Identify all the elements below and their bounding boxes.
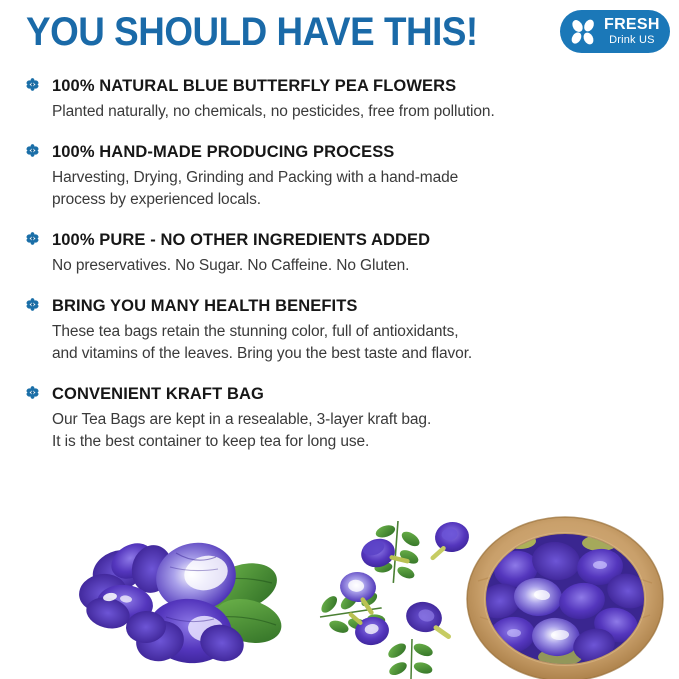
feature-line: Planted naturally, no chemicals, no pest… bbox=[52, 101, 659, 123]
brand-logo: FRESH Drink US bbox=[560, 10, 670, 53]
feature-item: 100% HAND-MADE PRODUCING PROCESS Harvest… bbox=[26, 142, 659, 211]
feature-body: 100% NATURAL BLUE BUTTERFLY PEA FLOWERS … bbox=[52, 76, 659, 123]
feature-line: Our Tea Bags are kept in a resealable, 3… bbox=[52, 409, 659, 431]
infographic-page: YOU SHOULD HAVE THIS! FRESH Drink US bbox=[0, 0, 679, 679]
feature-heading: BRING YOU MANY HEALTH BENEFITS bbox=[52, 296, 659, 317]
feature-item: 100% PURE - NO OTHER INGREDIENTS ADDED N… bbox=[26, 230, 659, 277]
feature-item: BRING YOU MANY HEALTH BENEFITS These tea… bbox=[26, 296, 659, 365]
feature-heading: 100% PURE - NO OTHER INGREDIENTS ADDED bbox=[52, 230, 659, 251]
feature-line: It is the best container to keep tea for… bbox=[52, 431, 659, 453]
flower-asterisk-icon bbox=[26, 384, 52, 399]
feature-heading: 100% HAND-MADE PRODUCING PROCESS bbox=[52, 142, 659, 163]
flower-asterisk-icon bbox=[26, 230, 52, 245]
brand-name-secondary: Drink US bbox=[609, 35, 655, 46]
brand-name-primary: FRESH bbox=[604, 17, 660, 33]
feature-heading: 100% NATURAL BLUE BUTTERFLY PEA FLOWERS bbox=[52, 76, 659, 97]
product-photo-strip bbox=[0, 509, 679, 679]
feature-line: process by experienced locals. bbox=[52, 189, 659, 211]
feature-body: BRING YOU MANY HEALTH BENEFITS These tea… bbox=[52, 296, 659, 365]
wooden-bowl-of-flowers-photo bbox=[467, 517, 663, 679]
feature-line: No preservatives. No Sugar. No Caffeine.… bbox=[52, 255, 659, 277]
flower-asterisk-icon bbox=[26, 142, 52, 157]
header: YOU SHOULD HAVE THIS! FRESH Drink US bbox=[0, 0, 679, 64]
page-title: YOU SHOULD HAVE THIS! bbox=[26, 10, 478, 54]
feature-body: CONVENIENT KRAFT BAG Our Tea Bags are ke… bbox=[52, 384, 659, 453]
feature-line: These tea bags retain the stunning color… bbox=[52, 321, 659, 343]
feature-line: Harvesting, Drying, Grinding and Packing… bbox=[52, 167, 659, 189]
feature-item: 100% NATURAL BLUE BUTTERFLY PEA FLOWERS … bbox=[26, 76, 659, 123]
butterfly-petals-icon bbox=[566, 14, 602, 50]
feature-body: 100% PURE - NO OTHER INGREDIENTS ADDED N… bbox=[52, 230, 659, 277]
flower-asterisk-icon bbox=[26, 296, 52, 311]
flower-asterisk-icon bbox=[26, 76, 52, 91]
feature-list: 100% NATURAL BLUE BUTTERFLY PEA FLOWERS … bbox=[0, 64, 679, 453]
feature-heading: CONVENIENT KRAFT BAG bbox=[52, 384, 659, 405]
brand-logo-text: FRESH Drink US bbox=[604, 17, 660, 46]
feature-item: CONVENIENT KRAFT BAG Our Tea Bags are ke… bbox=[26, 384, 659, 453]
feature-body: 100% HAND-MADE PRODUCING PROCESS Harvest… bbox=[52, 142, 659, 211]
feature-line: and vitamins of the leaves. Bring you th… bbox=[52, 343, 659, 365]
